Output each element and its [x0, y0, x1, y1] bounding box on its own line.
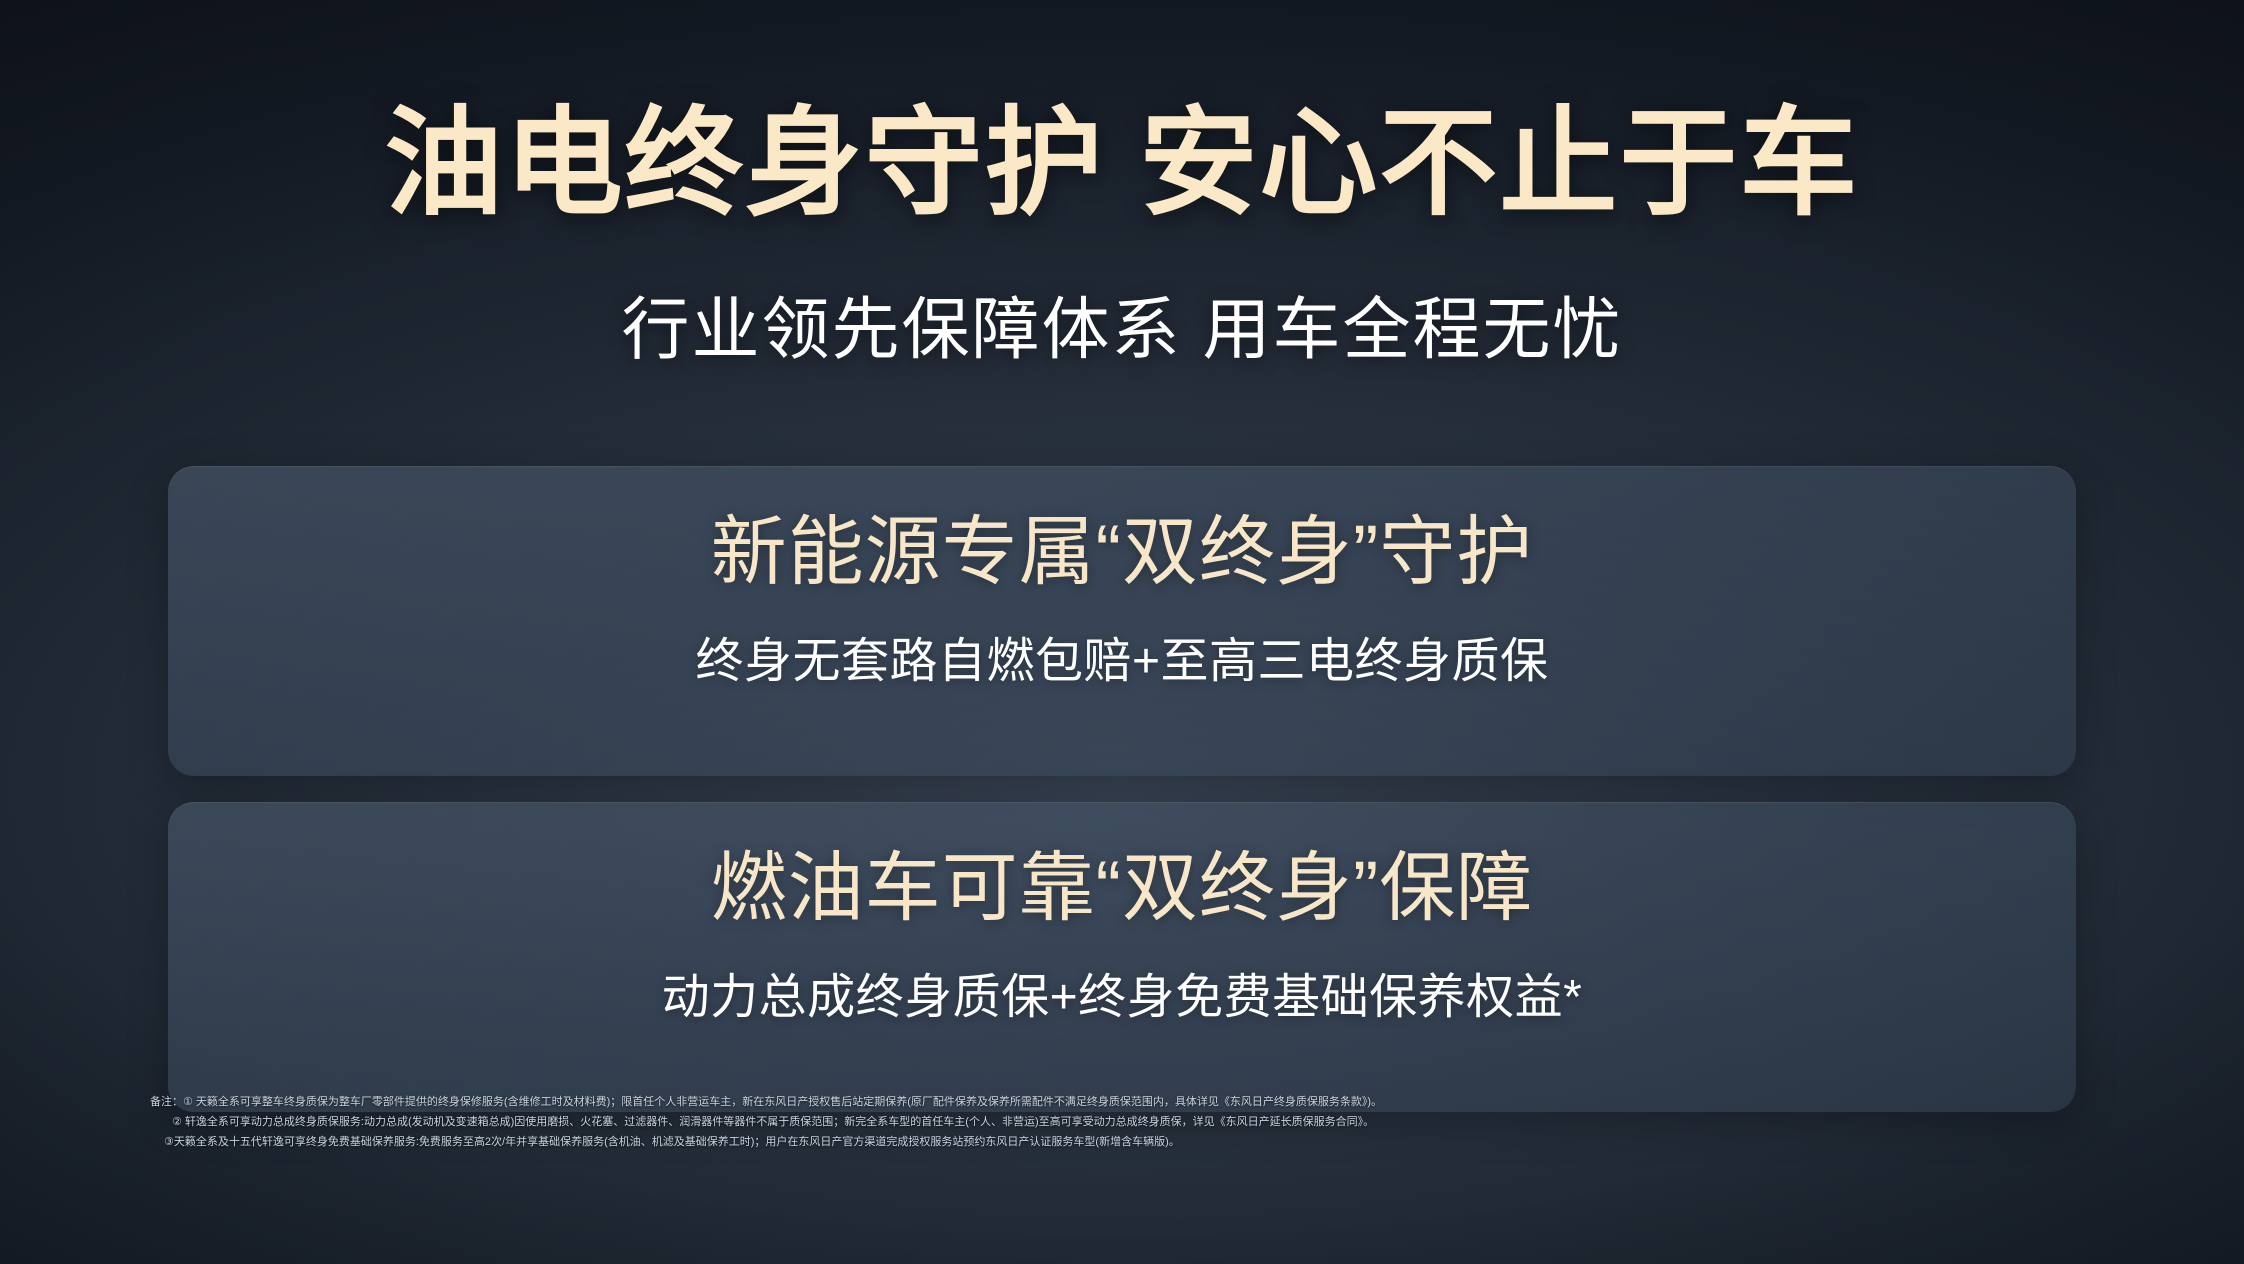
footnote-block: 备注：① 天籁全系可享整车终身质保为整车厂零部件提供的终身保修服务(含维修工时及…	[150, 1092, 2134, 1152]
benefit-card-title: 新能源专属“双终身”守护	[208, 508, 2036, 598]
page-subtitle: 行业领先保障体系 用车全程无忧	[0, 290, 2244, 372]
page-title: 油电终身守护 安心不止于车	[0, 96, 2244, 233]
footnote-line: 备注：① 天籁全系可享整车终身质保为整车厂零部件提供的终身保修服务(含维修工时及…	[150, 1092, 2134, 1112]
promo-banner: 油电终身守护 安心不止于车 行业领先保障体系 用车全程无忧 新能源专属“双终身”…	[0, 0, 2244, 1264]
benefit-card-title: 燃油车可靠“双终身”保障	[208, 844, 2036, 934]
benefit-card-subtitle: 终身无套路自燃包赔+至高三电终身质保	[208, 632, 2036, 692]
benefit-card-fuel: 燃油车可靠“双终身”保障 动力总成终身质保+终身免费基础保养权益*	[168, 802, 2076, 1112]
footnote-line: ② 轩逸全系可享动力总成终身质保服务:动力总成(发动机及变速箱总成)因使用磨损、…	[172, 1112, 2134, 1132]
benefit-card-new-energy: 新能源专属“双终身”守护 终身无套路自燃包赔+至高三电终身质保	[168, 466, 2076, 776]
footnote-line: ③天籁全系及十五代轩逸可享终身免费基础保养服务:免费服务至高2次/年并享基础保养…	[164, 1132, 2134, 1152]
benefit-card-list: 新能源专属“双终身”守护 终身无套路自燃包赔+至高三电终身质保 燃油车可靠“双终…	[168, 466, 2076, 1112]
benefit-card-subtitle: 动力总成终身质保+终身免费基础保养权益*	[208, 968, 2036, 1028]
